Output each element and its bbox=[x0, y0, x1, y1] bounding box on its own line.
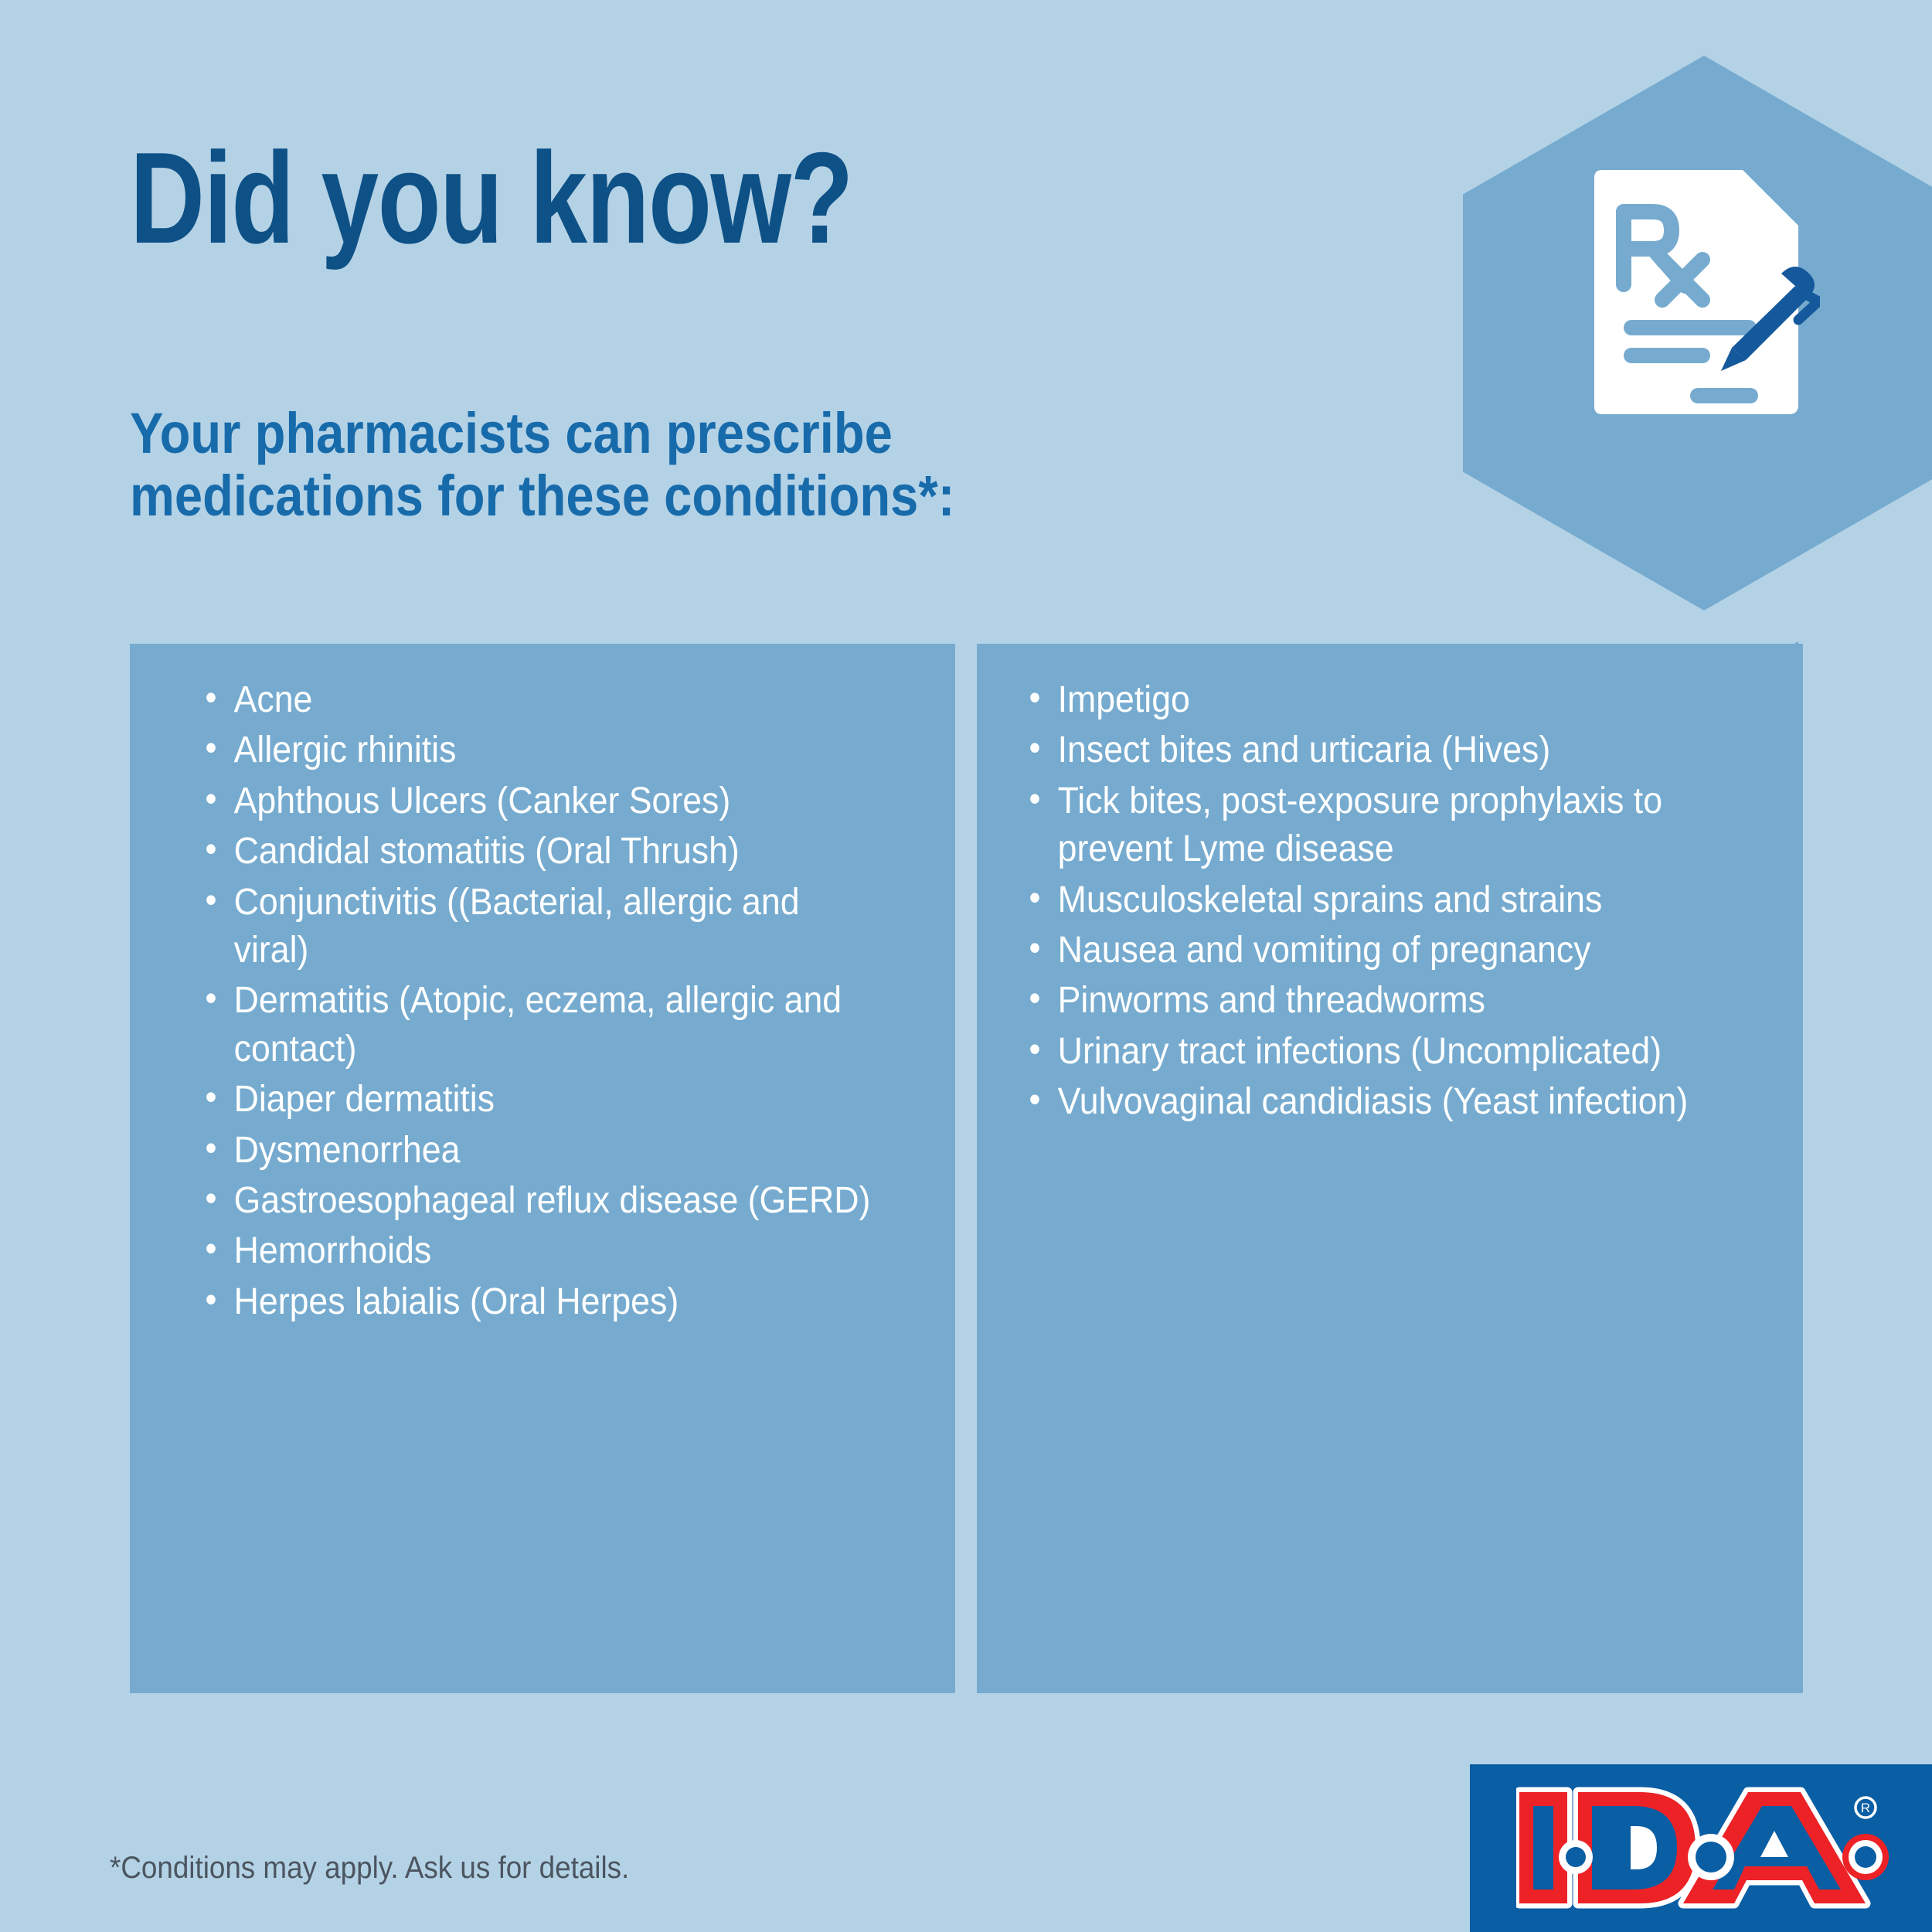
condition-item: Pinworms and threadworms bbox=[1023, 977, 1742, 1025]
condition-item: Dermatitis (Atopic, eczema, allergic and… bbox=[199, 977, 875, 1073]
condition-item: Impetigo bbox=[1023, 676, 1742, 724]
conditions-list-right: ImpetigoInsect bites and urticaria (Hive… bbox=[1023, 676, 1796, 1127]
conditions-list-left: AcneAllergic rhinitisAphthous Ulcers (Ca… bbox=[199, 676, 926, 1326]
condition-item: Musculoskeletal sprains and strains bbox=[1023, 876, 1742, 924]
condition-item: Urinary tract infections (Uncomplicated) bbox=[1023, 1028, 1742, 1076]
condition-item: Vulvovaginal candidiasis (Yeast infectio… bbox=[1023, 1078, 1742, 1126]
condition-item: Hemorrhoids bbox=[199, 1227, 875, 1275]
page-title: Did you know? bbox=[130, 124, 852, 273]
condition-item: Conjunctivitis ((Bacterial, allergic and… bbox=[199, 879, 875, 975]
condition-item: Candidal stomatitis (Oral Thrush) bbox=[199, 828, 875, 876]
subtitle-line-1: Your pharmacists can prescribe bbox=[130, 402, 1150, 464]
conditions-panel-right: ImpetigoInsect bites and urticaria (Hive… bbox=[977, 644, 1803, 1693]
page-subtitle: Your pharmacists can prescribe medicatio… bbox=[130, 402, 1150, 528]
condition-item: Acne bbox=[199, 676, 875, 724]
subtitle-line-2: medications for these conditions*: bbox=[130, 464, 1150, 527]
ida-logo-box: R bbox=[1470, 1764, 1932, 1932]
poster-canvas: Did you know? Your pharmacists can presc… bbox=[0, 0, 1932, 1932]
condition-item: Herpes labialis (Oral Herpes) bbox=[199, 1278, 875, 1326]
condition-item: Dysmenorrhea bbox=[199, 1127, 875, 1175]
svg-text:R: R bbox=[1861, 1801, 1870, 1815]
condition-item: Allergic rhinitis bbox=[199, 726, 875, 774]
rx-prescription-icon bbox=[1588, 168, 1820, 423]
condition-item: Tick bites, post-exposure prophylaxis to… bbox=[1023, 777, 1742, 874]
condition-item: Diaper dermatitis bbox=[199, 1076, 875, 1124]
ida-logo: R bbox=[1516, 1786, 1895, 1910]
condition-item: Insect bites and urticaria (Hives) bbox=[1023, 726, 1742, 774]
condition-item: Gastroesophageal reflux disease (GERD) bbox=[199, 1177, 875, 1225]
hexagon-outline-icon bbox=[1791, 549, 1932, 935]
conditions-panel-left: AcneAllergic rhinitisAphthous Ulcers (Ca… bbox=[130, 644, 955, 1693]
condition-item: Aphthous Ulcers (Canker Sores) bbox=[199, 777, 875, 825]
footnote-text: *Conditions may apply. Ask us for detail… bbox=[110, 1851, 629, 1886]
condition-item: Nausea and vomiting of pregnancy bbox=[1023, 927, 1742, 975]
registered-trademark-icon: R bbox=[1855, 1798, 1876, 1818]
